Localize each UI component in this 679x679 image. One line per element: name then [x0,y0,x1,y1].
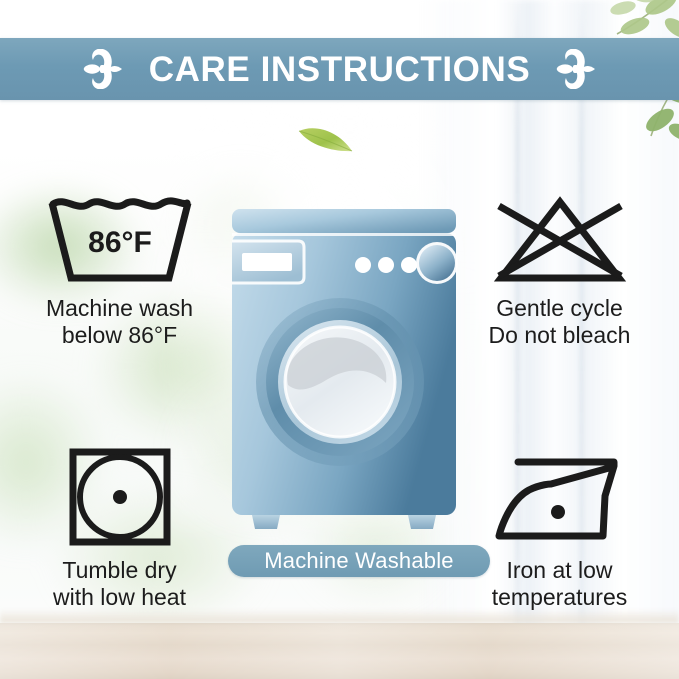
care-symbol-dry: Tumble dry with low heat [12,444,227,611]
table-edge-highlight [0,609,679,623]
triangle-crossed-out-icon [485,194,635,286]
care-symbol-iron: Iron at low temperatures [452,444,667,611]
washer-button-2 [378,257,394,273]
care-symbol-wash: 86°F Machine wash below 86°F [12,194,227,349]
washer-knob [419,245,455,281]
washer-button-1 [355,257,371,273]
fleur-de-lis-icon [75,49,131,89]
fleur-de-lis-icon [548,49,604,89]
washer-foot-right [408,515,436,529]
iron-low-icon [485,444,635,548]
wash-temperature-value: 86°F [88,226,152,259]
washer-button-3 [401,257,417,273]
washer-drawer-slot [242,253,292,271]
machine-washable-badge: Machine Washable [228,545,490,577]
care-instructions-infographic: CARE INSTRUCTIONS 86°F [0,0,679,679]
washer-top-lid [232,209,456,233]
wash-tub-icon: 86°F [45,194,195,286]
table-surface-sheen [0,623,679,679]
washing-machine-illustration [228,207,460,537]
banner: CARE INSTRUCTIONS [0,38,679,100]
tumble-dry-low-icon [65,444,175,548]
care-symbol-wash-label: Machine wash below 86°F [46,295,193,349]
washer-foot-left [252,515,280,529]
page-title: CARE INSTRUCTIONS [149,52,531,87]
care-symbol-bleach: Gentle cycle Do not bleach [452,194,667,349]
care-symbol-iron-label: Iron at low temperatures [492,557,628,611]
care-symbol-bleach-label: Gentle cycle Do not bleach [489,295,631,349]
care-symbol-dry-label: Tumble dry with low heat [53,557,186,611]
